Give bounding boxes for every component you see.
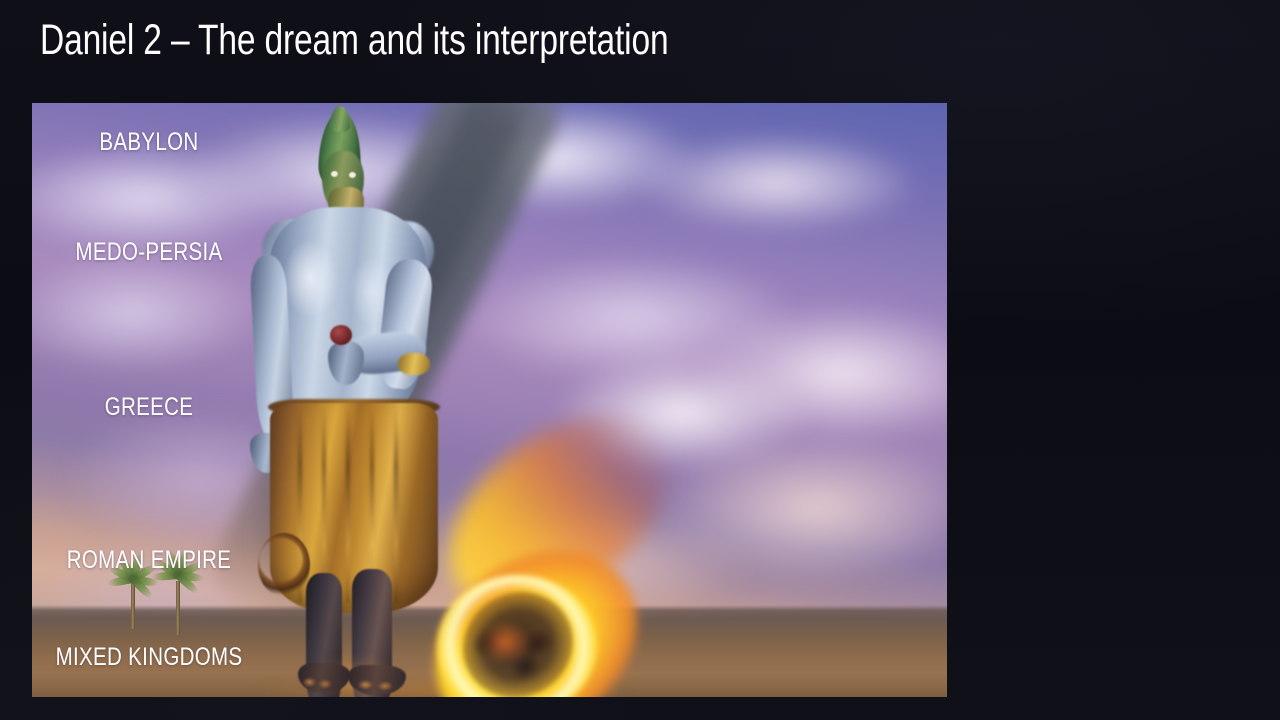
page-title: Daniel 2 – The dream and its interpretat… — [40, 18, 898, 63]
statue-cap-tip — [330, 106, 350, 132]
palm-trunk — [176, 581, 180, 635]
statue-shield-ornament — [258, 533, 310, 597]
label-mixed-kingdoms: MIXED KINGDOMS — [56, 645, 243, 670]
statue-chest-gem — [330, 325, 352, 345]
slide-canvas: Daniel 2 – The dream and its interpretat… — [0, 0, 1280, 720]
statue-eye-left — [331, 171, 338, 177]
palm-tree — [110, 567, 156, 629]
statue-gold-cuff — [398, 353, 430, 375]
label-babylon: BABYLON — [99, 130, 198, 155]
label-medo-persia: MEDO-PERSIA — [75, 240, 222, 265]
palm-trunk — [131, 583, 135, 629]
meteor-fireball — [407, 503, 707, 697]
nebuchadnezzar-statue — [222, 103, 432, 697]
statue-eye-right — [349, 172, 356, 178]
skirt-fold — [346, 407, 350, 603]
palm-tree — [152, 565, 204, 635]
cloud-decoration — [632, 133, 922, 233]
skirt-fold — [394, 407, 398, 603]
label-greece: GREECE — [105, 395, 194, 420]
meteor-core-ember — [479, 621, 531, 663]
label-roman-empire: ROMAN EMPIRE — [67, 548, 232, 573]
dream-statue-image[interactable]: BABYLON MEDO-PERSIA GREECE ROMAN EMPIRE … — [32, 103, 947, 697]
